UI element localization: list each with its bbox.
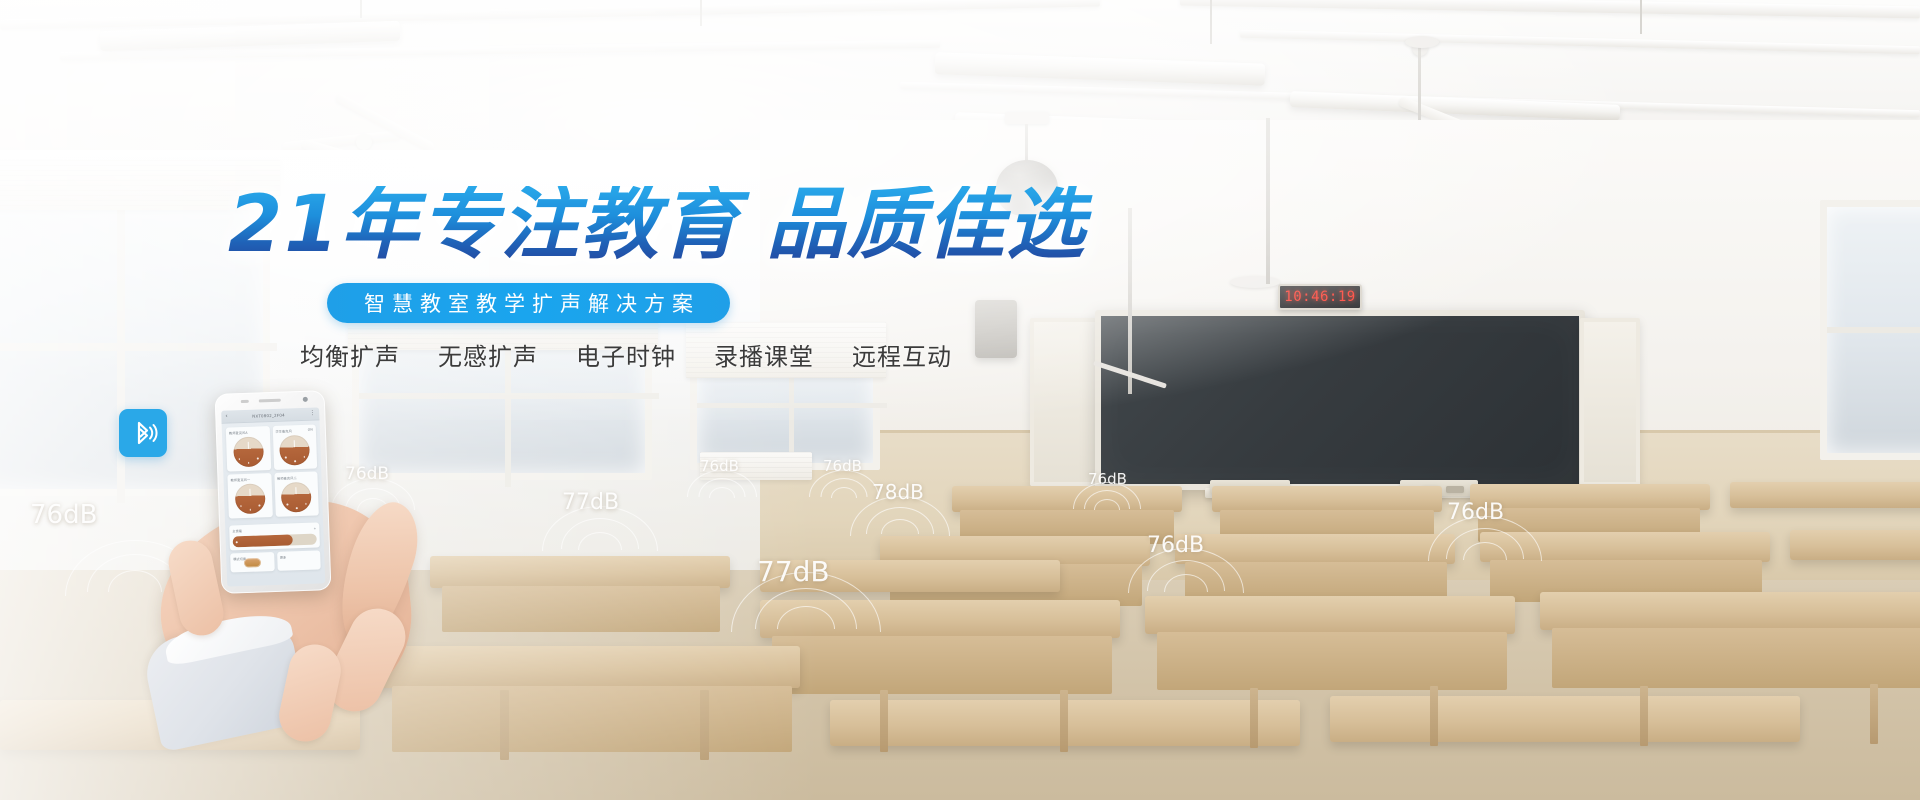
student-desk — [760, 560, 1060, 592]
master-volume-slider[interactable] — [233, 534, 317, 548]
student-desk — [1480, 532, 1770, 562]
app-title: NXT0802_2F04 — [252, 412, 285, 418]
blackboard-wing-left — [1030, 318, 1102, 486]
microphone-boom-pole — [1128, 208, 1132, 394]
desk-leg — [880, 690, 888, 752]
blackboard — [1095, 310, 1585, 490]
desk-leg — [1430, 686, 1438, 746]
action-button-row: 模式切换 更多 — [226, 547, 325, 576]
student-desk — [1212, 486, 1442, 512]
student-desk — [1730, 482, 1920, 508]
speaker-mount-cap — [1005, 112, 1049, 124]
phone-front-camera — [303, 397, 308, 402]
microphone-card[interactable]: 学生麦克风ON — [272, 424, 317, 469]
microphone-card[interactable]: 教师麦克风二 — [274, 471, 319, 516]
phone-in-hand-illustration: ‹ NXT0802_2F04 ⋮ 教师麦克风A 学生麦克风ON 教师麦克风一 — [160, 392, 490, 800]
desk-leg — [500, 690, 509, 760]
slider-label: 主音量 — [232, 528, 242, 533]
student-desk — [1540, 592, 1920, 630]
student-desk-front — [1157, 632, 1507, 690]
desk-leg — [1060, 690, 1068, 752]
speaker-mount-pole — [1025, 124, 1028, 162]
blackboard-wing-right — [1580, 318, 1640, 486]
student-desk — [1175, 534, 1455, 564]
button-label: 更多 — [280, 556, 287, 560]
bluetooth-icon — [127, 417, 159, 449]
chevron-left-icon[interactable]: ‹ — [225, 414, 228, 420]
clock-time-display: 10:46:19 — [1284, 289, 1355, 305]
lamp-cord — [360, 0, 362, 18]
student-desk-front — [1552, 628, 1920, 688]
mode-switch-button[interactable]: 模式切换 — [230, 552, 274, 573]
phone-earpiece — [259, 399, 281, 403]
card-label: 教师麦克风A — [229, 430, 248, 436]
microphone-card[interactable]: 教师麦克风一 — [227, 473, 272, 518]
master-volume-card[interactable]: 主音量 + — [229, 522, 320, 550]
window-blind — [348, 288, 658, 350]
lamp-cord — [1640, 0, 1642, 34]
more-options-button[interactable]: 更多 — [277, 550, 321, 571]
student-desk — [1470, 484, 1710, 510]
microphone-card[interactable]: 教师麦克风A — [226, 426, 271, 471]
board-panel-button — [1446, 486, 1464, 493]
window-blind — [686, 322, 886, 378]
ceiling-speaker-cap — [1230, 276, 1280, 288]
desk-leg — [1870, 684, 1878, 744]
volume-knob[interactable] — [233, 436, 264, 467]
more-vertical-icon[interactable]: ⋮ — [309, 410, 315, 416]
slider-handle-dot — [236, 541, 238, 543]
electronic-clock: 10:46:19 — [1278, 284, 1362, 310]
student-desk — [1790, 530, 1920, 560]
plus-icon[interactable]: + — [314, 526, 317, 530]
lamp-cord — [1210, 0, 1212, 44]
student-desk — [760, 600, 1120, 638]
card-label: 学生麦克风 — [275, 428, 292, 434]
phone-screen: ‹ NXT0802_2F04 ⋮ 教师麦克风A 学生麦克风ON 教师麦克风一 — [221, 407, 325, 586]
student-desk-front — [772, 636, 1112, 694]
card-label: 教师麦克风二 — [277, 475, 297, 481]
smartphone: ‹ NXT0802_2F04 ⋮ 教师麦克风A 学生麦克风ON 教师麦克风一 — [215, 390, 332, 594]
student-desk — [952, 486, 1182, 512]
student-desk — [1330, 696, 1800, 742]
slider-fill — [233, 534, 294, 547]
desk-leg — [1640, 686, 1648, 746]
window-blind — [700, 452, 812, 480]
microphone-card-grid: 教师麦克风A 学生麦克风ON 教师麦克风一 教师麦克风二 — [222, 420, 323, 522]
lamp-cord — [700, 0, 702, 26]
volume-knob[interactable] — [279, 435, 310, 466]
desk-leg — [700, 690, 709, 760]
volume-knob[interactable] — [234, 483, 265, 514]
ceiling-dome-speaker — [996, 160, 1058, 216]
volume-knob[interactable] — [281, 482, 312, 513]
classroom-amplification-hero-banner: 10:46:19 — [0, 0, 1920, 800]
window — [1820, 200, 1920, 460]
mode-toggle-pill[interactable] — [244, 558, 261, 568]
ceiling-fan-cap — [1405, 36, 1439, 48]
window-blind — [0, 160, 280, 210]
desk-leg — [1250, 688, 1258, 748]
card-label: 教师麦克风一 — [230, 477, 250, 483]
microphone-boom-pole — [1266, 118, 1270, 284]
phone-sensor — [241, 400, 249, 403]
student-desk — [1145, 596, 1515, 634]
card-badge: ON — [308, 428, 313, 433]
wall-mounted-speaker — [975, 300, 1017, 358]
